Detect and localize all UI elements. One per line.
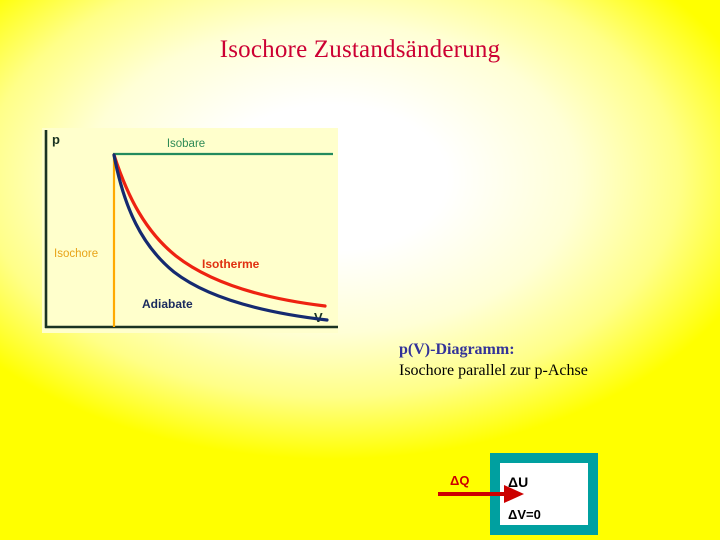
energy-balance-figure: ΔQ ΔU ΔV=0	[428, 451, 603, 537]
energy-balance-svg: ΔQ ΔU ΔV=0	[428, 451, 603, 537]
chart-y-axis-label: p	[52, 132, 60, 147]
pv-diagram-subtext: Isochore parallel zur p-Achse	[399, 361, 699, 382]
internal-energy-label: ΔU	[508, 474, 528, 490]
page-title: Isochore Zustandsänderung	[0, 36, 720, 64]
volume-change-label: ΔV=0	[508, 507, 541, 522]
heat-label: ΔQ	[450, 473, 469, 488]
series-adiabate-curve	[114, 155, 327, 320]
series-isotherme-curve	[114, 155, 325, 306]
series-isobare-label: Isobare	[167, 138, 205, 150]
pv-chart-svg: p V Isochore Isobare Isotherme Adiabate	[42, 128, 338, 333]
series-isotherme-label: Isotherme	[202, 257, 260, 271]
series-adiabate-label: Adiabate	[142, 297, 193, 311]
pv-diagram-text-block: p(V)-Diagramm: Isochore parallel zur p-A…	[399, 340, 699, 382]
pv-diagram-heading: p(V)-Diagramm:	[399, 340, 699, 361]
slide-canvas: Isochore Zustandsänderung p V Isochore I…	[0, 0, 720, 540]
series-isochore-label: Isochore	[54, 248, 98, 260]
pv-diagram-chart: p V Isochore Isobare Isotherme Adiabate	[42, 128, 338, 333]
